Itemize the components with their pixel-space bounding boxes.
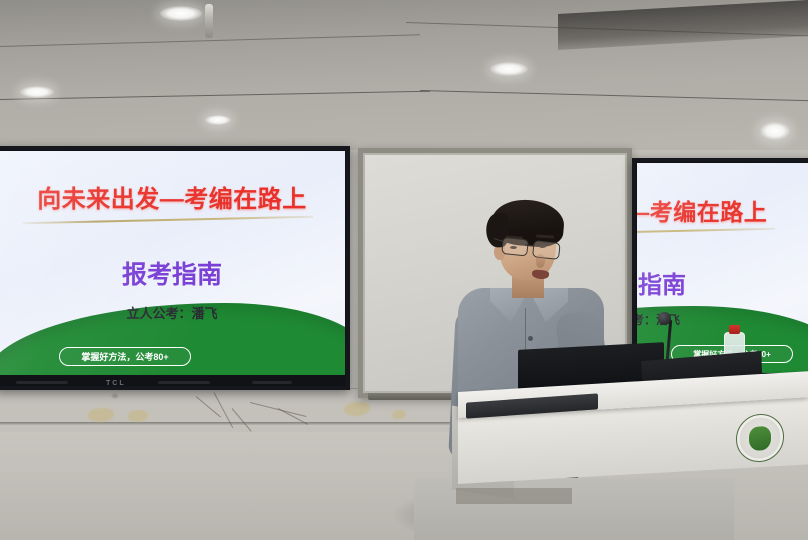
shirt-button (528, 336, 533, 341)
speaker-slot (158, 381, 210, 384)
wall-stain (392, 410, 406, 419)
crest-core (749, 426, 771, 451)
ceiling-soffit (558, 0, 808, 50)
speaker-slot (252, 381, 292, 384)
ceiling-sensor-icon (205, 4, 213, 38)
glasses-lens-left (501, 237, 529, 257)
ceiling-seam (0, 91, 430, 100)
speaker-slot (16, 381, 68, 384)
wall-stain (344, 402, 370, 416)
downlight-icon (160, 6, 202, 21)
downlight-icon (490, 62, 528, 76)
lectern[interactable] (452, 392, 808, 540)
lecture-hall-screenshot: 向未来出发—考编在路上 报考指南 立人公考：潘飞 掌握好方法，公考80+ TCL… (0, 0, 808, 540)
downlight-icon (205, 115, 231, 125)
downlight-icon (20, 86, 54, 98)
lectern-panel-shadow (456, 488, 572, 504)
presenter-nose (536, 254, 545, 268)
left-display-bezel (0, 146, 350, 390)
wall-crack (232, 408, 252, 432)
tcl-logo: TCL (106, 380, 126, 387)
left-display[interactable]: 向未来出发—考编在路上 报考指南 立人公考：潘飞 掌握好方法，公考80+ TCL (0, 146, 350, 390)
wall-stain (128, 410, 148, 422)
downlight-icon (760, 122, 790, 140)
microphone-icon (658, 312, 671, 325)
wall-stain (88, 408, 114, 422)
ceiling (0, 0, 808, 152)
bottle-cap (729, 325, 740, 334)
ceiling-seam (420, 90, 808, 101)
wall-scuff (112, 394, 118, 398)
